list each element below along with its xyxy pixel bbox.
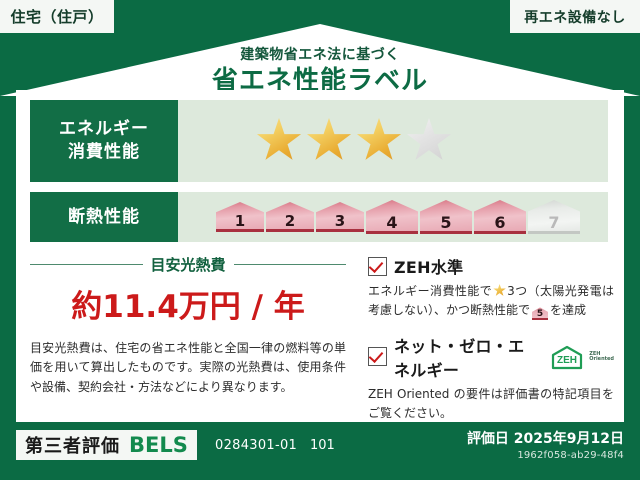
cost-heading-text: 目安光熱費 <box>151 254 226 275</box>
insulation-label-line1: 断熱性能 <box>68 206 140 229</box>
renewable-energy-tag: 再エネ設備なし <box>510 0 640 33</box>
energy-label-line1: エネルギー <box>59 118 149 141</box>
house-icon-grade-3: 3 <box>316 202 364 232</box>
rule-left <box>30 264 143 265</box>
house-icon-grade-6: 6 <box>474 200 526 234</box>
evaluation-hash: 1962f058-ab29-48f4 <box>517 450 624 461</box>
insulation-grade-scale: 1 2 3 4 5 6 7 <box>178 192 608 242</box>
energy-star-rating <box>178 100 608 182</box>
energy-performance-label: 住宅（住戸） 再エネ設備なし 建築物省エネ法に基づく 省エネ性能ラベル エネルギ… <box>0 0 640 480</box>
zeh-net-zero-head: ネット・ゼロ・エネルギー ZEH ZEH Oriented <box>368 333 614 381</box>
cost-heading: 目安光熱費 <box>30 254 346 275</box>
bels-word: BELS <box>129 433 188 457</box>
zeh-standard-title: ZEH水準 <box>394 254 463 278</box>
zeh-logo: ZEH ZEH Oriented <box>547 344 614 370</box>
cost-amount: 約11.4万円 / 年 <box>30 281 346 326</box>
zeh-net-zero-title: ネット・ゼロ・エネルギー <box>394 333 537 381</box>
star-icon-3 <box>356 118 402 164</box>
star-icon-1 <box>256 118 302 164</box>
house-icon-grade-1: 1 <box>216 202 264 232</box>
registration-number: 0284301-01 <box>215 438 297 453</box>
checkbox-checked-icon-zeh-standard[interactable] <box>368 257 387 276</box>
building-type-tag: 住宅（住戸） <box>0 0 114 33</box>
estimated-utility-cost-block: 目安光熱費 約11.4万円 / 年 目安光熱費は、住宅の省エネ性能と全国一律の燃… <box>30 254 346 397</box>
footer: 第三者評価 BELS 0284301-01 101 評価日 2025年9月12日… <box>0 424 640 480</box>
zeh-item-net-zero: ネット・ゼロ・エネルギー ZEH ZEH Oriented ZEH Orient… <box>368 333 614 424</box>
unit-number: 101 <box>310 438 335 453</box>
zeh-standard-head: ZEH水準 <box>368 254 614 278</box>
svg-text:ZEH: ZEH <box>557 355 577 366</box>
insulation-performance-label-cell: 断熱性能 <box>30 192 178 242</box>
house-icon-grade-4: 4 <box>366 200 418 234</box>
zeh-standard-description: エネルギー消費性能で3つ（太陽光発電は考慮しない）、かつ断熱性能で5を達成 <box>368 282 614 321</box>
star-icon-inline <box>493 284 506 297</box>
cost-note: 目安光熱費は、住宅の省エネ性能と全国一律の燃料等の単価を用いて算出したものです。… <box>30 339 346 397</box>
third-party-evaluation-label: 第三者評価 <box>25 432 120 458</box>
star-icon-4 <box>406 118 452 164</box>
energy-label-line2: 消費性能 <box>68 141 140 164</box>
zeh-item-standard: ZEH水準 エネルギー消費性能で3つ（太陽光発電は考慮しない）、かつ断熱性能で5… <box>368 254 614 321</box>
house-icon-grade-2: 2 <box>266 202 314 232</box>
zeh-net-zero-description: ZEH Oriented の要件は評価書の特記項目をご覧ください。 <box>368 385 614 424</box>
house-icon-inline: 5 <box>532 307 548 320</box>
label-panel: エネルギー 消費性能 断熱性能 1 2 3 4 5 6 7 <box>16 90 624 422</box>
energy-performance-row: エネルギー 消費性能 <box>30 100 608 182</box>
rule-right <box>234 264 347 265</box>
house-icon-grade-7: 7 <box>528 200 580 234</box>
zeh-logo-caption-2: Oriented <box>589 357 614 362</box>
bels-chip: 第三者評価 BELS <box>16 430 197 460</box>
zeh-desc-part1: エネルギー消費性能で <box>368 284 492 298</box>
checkbox-checked-icon-net-zero[interactable] <box>368 347 387 366</box>
zeh-house-logo-icon: ZEH <box>547 344 587 370</box>
star-icon-2 <box>306 118 352 164</box>
house-icon-grade-5: 5 <box>420 200 472 234</box>
zeh-block: ZEH水準 エネルギー消費性能で3つ（太陽光発電は考慮しない）、かつ断熱性能で5… <box>368 254 614 436</box>
zeh-desc-part3: を達成 <box>550 303 586 317</box>
insulation-performance-row: 断熱性能 1 2 3 4 5 6 7 <box>30 192 608 242</box>
energy-performance-label-cell: エネルギー 消費性能 <box>30 100 178 182</box>
evaluation-date: 評価日 2025年9月12日 <box>467 428 624 448</box>
